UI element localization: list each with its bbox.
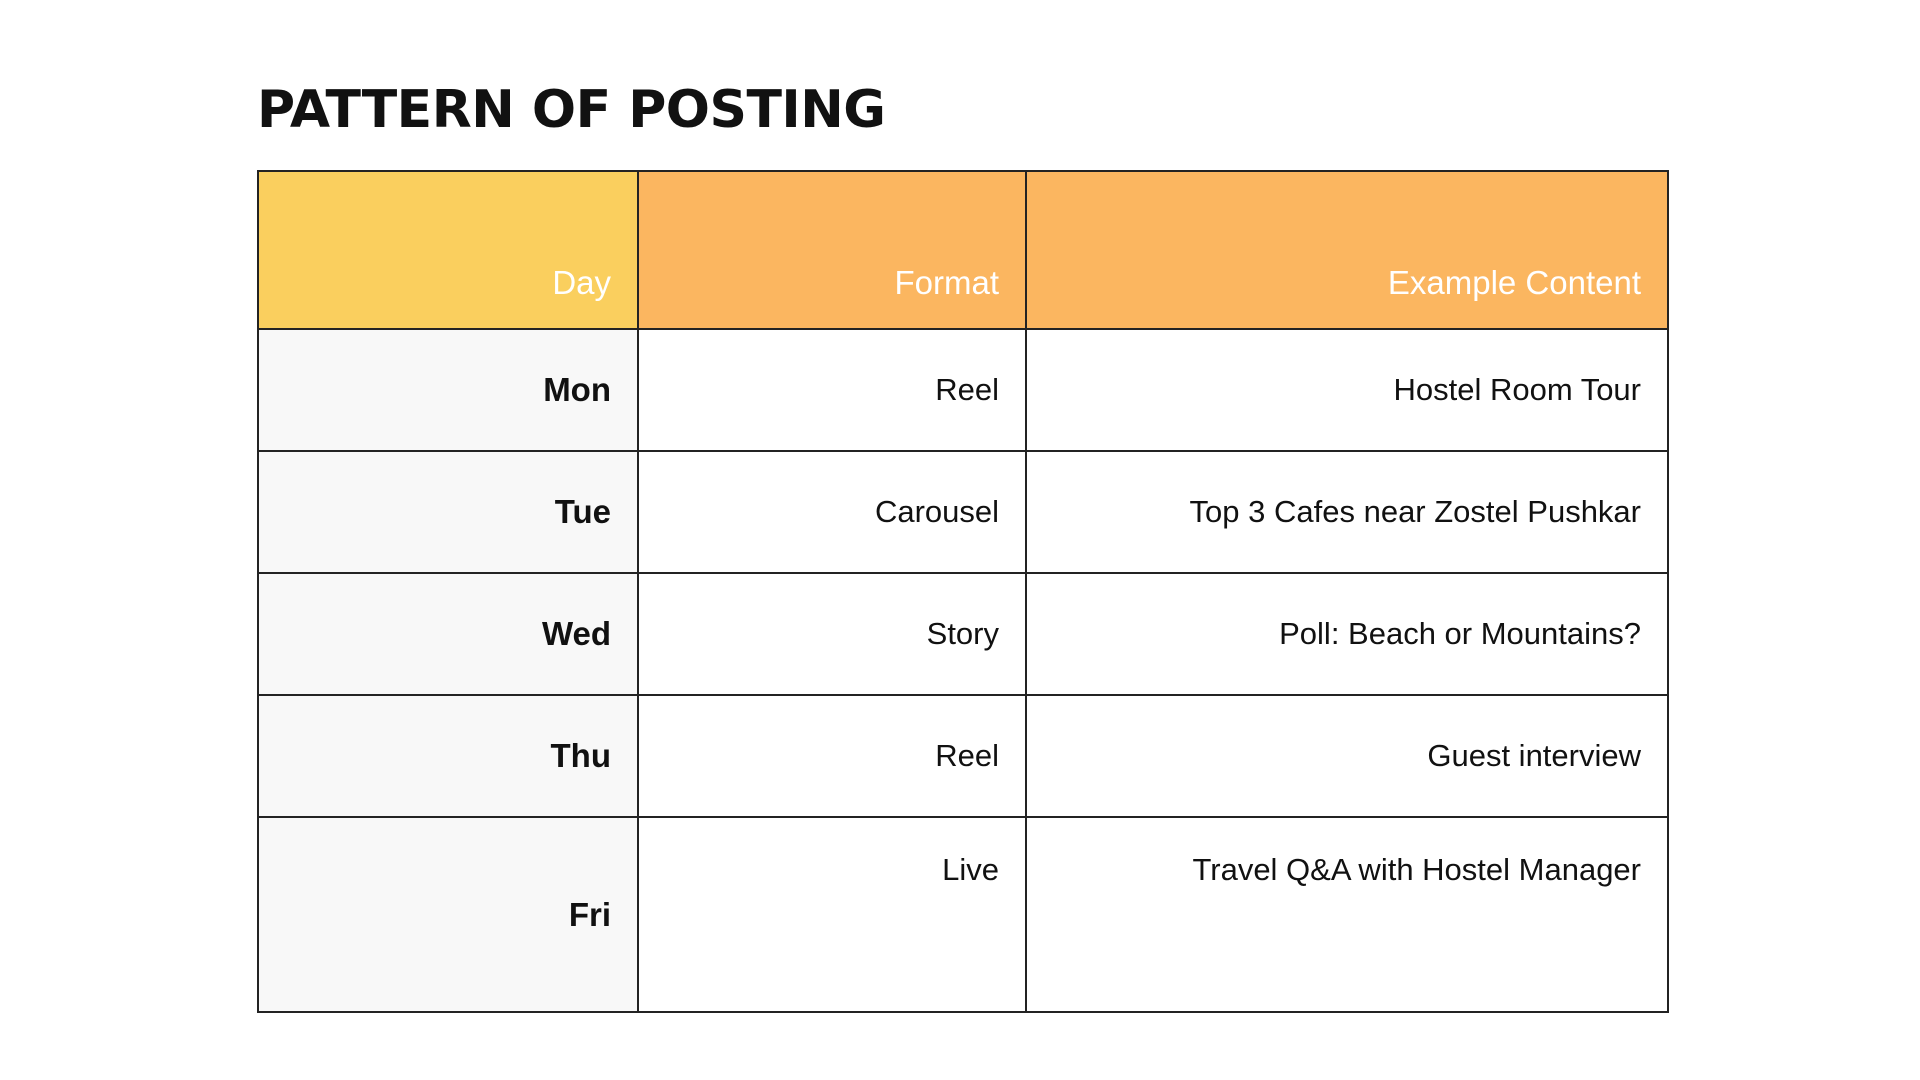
table-header: Day Format Example Content <box>258 171 1668 329</box>
cell-example-content: Hostel Room Tour <box>1026 329 1668 451</box>
cell-example-content: Travel Q&A with Hostel Manager <box>1026 817 1668 1012</box>
table-row: Thu Reel Guest interview <box>258 695 1668 817</box>
cell-format: Live <box>638 817 1026 1012</box>
cell-day: Mon <box>258 329 638 451</box>
cell-day: Tue <box>258 451 638 573</box>
cell-format: Carousel <box>638 451 1026 573</box>
table-row: Mon Reel Hostel Room Tour <box>258 329 1668 451</box>
cell-day: Fri <box>258 817 638 1012</box>
column-header-example-content: Example Content <box>1026 171 1668 329</box>
cell-example-content: Guest interview <box>1026 695 1668 817</box>
document-page: PATTERN OF POSTING Day Format Example Co… <box>0 0 1920 1080</box>
page-title: PATTERN OF POSTING <box>257 84 885 136</box>
cell-example-content: Poll: Beach or Mountains? <box>1026 573 1668 695</box>
posting-schedule-table: Day Format Example Content Mon Reel Host… <box>257 170 1669 1013</box>
column-header-format: Format <box>638 171 1026 329</box>
table-row: Wed Story Poll: Beach or Mountains? <box>258 573 1668 695</box>
table-row: Fri Live Travel Q&A with Hostel Manager <box>258 817 1668 1012</box>
table-body: Mon Reel Hostel Room Tour Tue Carousel T… <box>258 329 1668 1012</box>
cell-example-content: Top 3 Cafes near Zostel Pushkar <box>1026 451 1668 573</box>
cell-format: Story <box>638 573 1026 695</box>
cell-format: Reel <box>638 695 1026 817</box>
cell-day: Wed <box>258 573 638 695</box>
cell-day: Thu <box>258 695 638 817</box>
table-row: Tue Carousel Top 3 Cafes near Zostel Pus… <box>258 451 1668 573</box>
cell-format: Reel <box>638 329 1026 451</box>
column-header-day: Day <box>258 171 638 329</box>
table-header-row: Day Format Example Content <box>258 171 1668 329</box>
